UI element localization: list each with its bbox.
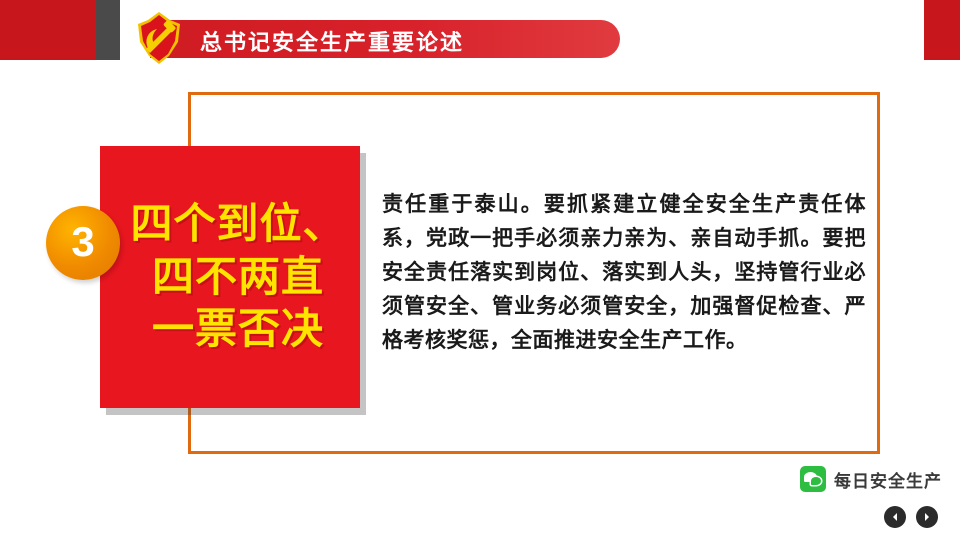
heading-line-2: 四不两直 <box>152 251 324 304</box>
nav-arrows[interactable] <box>884 506 938 528</box>
step-number-badge: 3 <box>46 206 120 280</box>
body-paragraph: 责任重于泰山。要抓紧建立健全安全生产责任体系，党政一把手必须亲力亲为、亲自动手抓… <box>382 188 866 358</box>
arrow-right-icon[interactable] <box>916 506 938 528</box>
header-band: 总书记安全生产重要论述 <box>0 0 960 72</box>
header-dark-block <box>96 0 120 60</box>
watermark-label: 每日安全生产 <box>834 467 942 492</box>
page-title: 总书记安全生产重要论述 <box>200 25 464 57</box>
watermark: 每日安全生产 <box>800 466 942 492</box>
header-red-block-left <box>0 0 96 60</box>
heading-line-1: 四个到位、 <box>130 198 345 251</box>
heading-line-3: 一票否决 <box>152 303 324 356</box>
header-red-block-right <box>924 0 960 60</box>
step-number-label: 3 <box>71 221 94 263</box>
heading-red-box: 四个到位、 四不两直 一票否决 <box>100 146 360 408</box>
wechat-logo-icon <box>800 466 826 492</box>
slide: 总书记安全生产重要论述 四个到位、 四不两直 一票否决 3 责任重于泰山。要抓紧… <box>0 0 960 540</box>
arrow-left-icon[interactable] <box>884 506 906 528</box>
party-emblem-icon <box>128 8 190 70</box>
